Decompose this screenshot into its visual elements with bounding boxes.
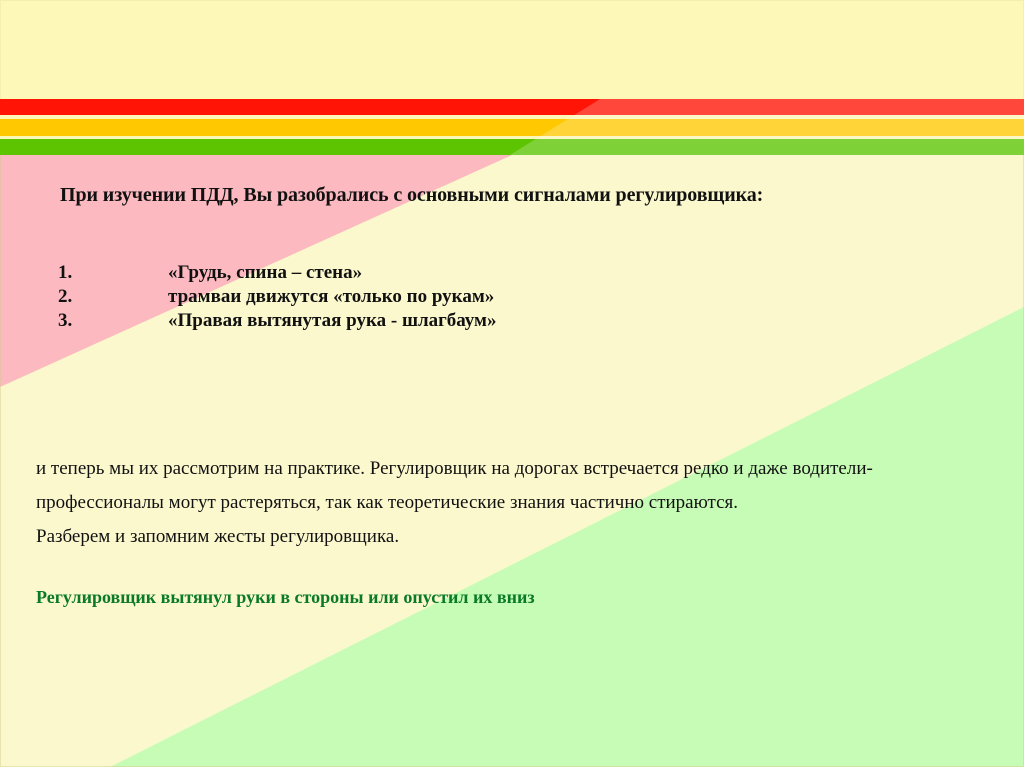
list-item-label: трамваи движутся «только по рукам» xyxy=(168,286,494,308)
list-item-number: 3. xyxy=(58,310,168,332)
list-item: 2. трамваи движутся «только по рукам» xyxy=(58,286,758,310)
slide-canvas: При изучении ПДД, Вы разобрались с основ… xyxy=(0,0,1024,767)
paragraph-intro: и теперь мы их рассмотрим на практике. Р… xyxy=(36,452,986,520)
list-item-label: «Правая вытянутая рука - шлагбаум» xyxy=(168,310,497,332)
list-item: 1. «Грудь, спина – стена» xyxy=(58,262,758,286)
list-item-number: 1. xyxy=(58,262,168,284)
signal-list: 1. «Грудь, спина – стена» 2. трамваи дви… xyxy=(58,262,758,334)
list-item-label: «Грудь, спина – стена» xyxy=(168,262,362,284)
paragraph-highlight: Регулировщик вытянул руки в стороны или … xyxy=(36,580,836,614)
paragraph-second: Разберем и запомним жесты регулировщика. xyxy=(36,520,736,554)
slide-heading: При изучении ПДД, Вы разобрались с основ… xyxy=(60,184,763,207)
list-item-number: 2. xyxy=(58,286,168,308)
slide-content: При изучении ПДД, Вы разобрались с основ… xyxy=(0,0,1024,767)
list-item: 3. «Правая вытянутая рука - шлагбаум» xyxy=(58,310,758,334)
